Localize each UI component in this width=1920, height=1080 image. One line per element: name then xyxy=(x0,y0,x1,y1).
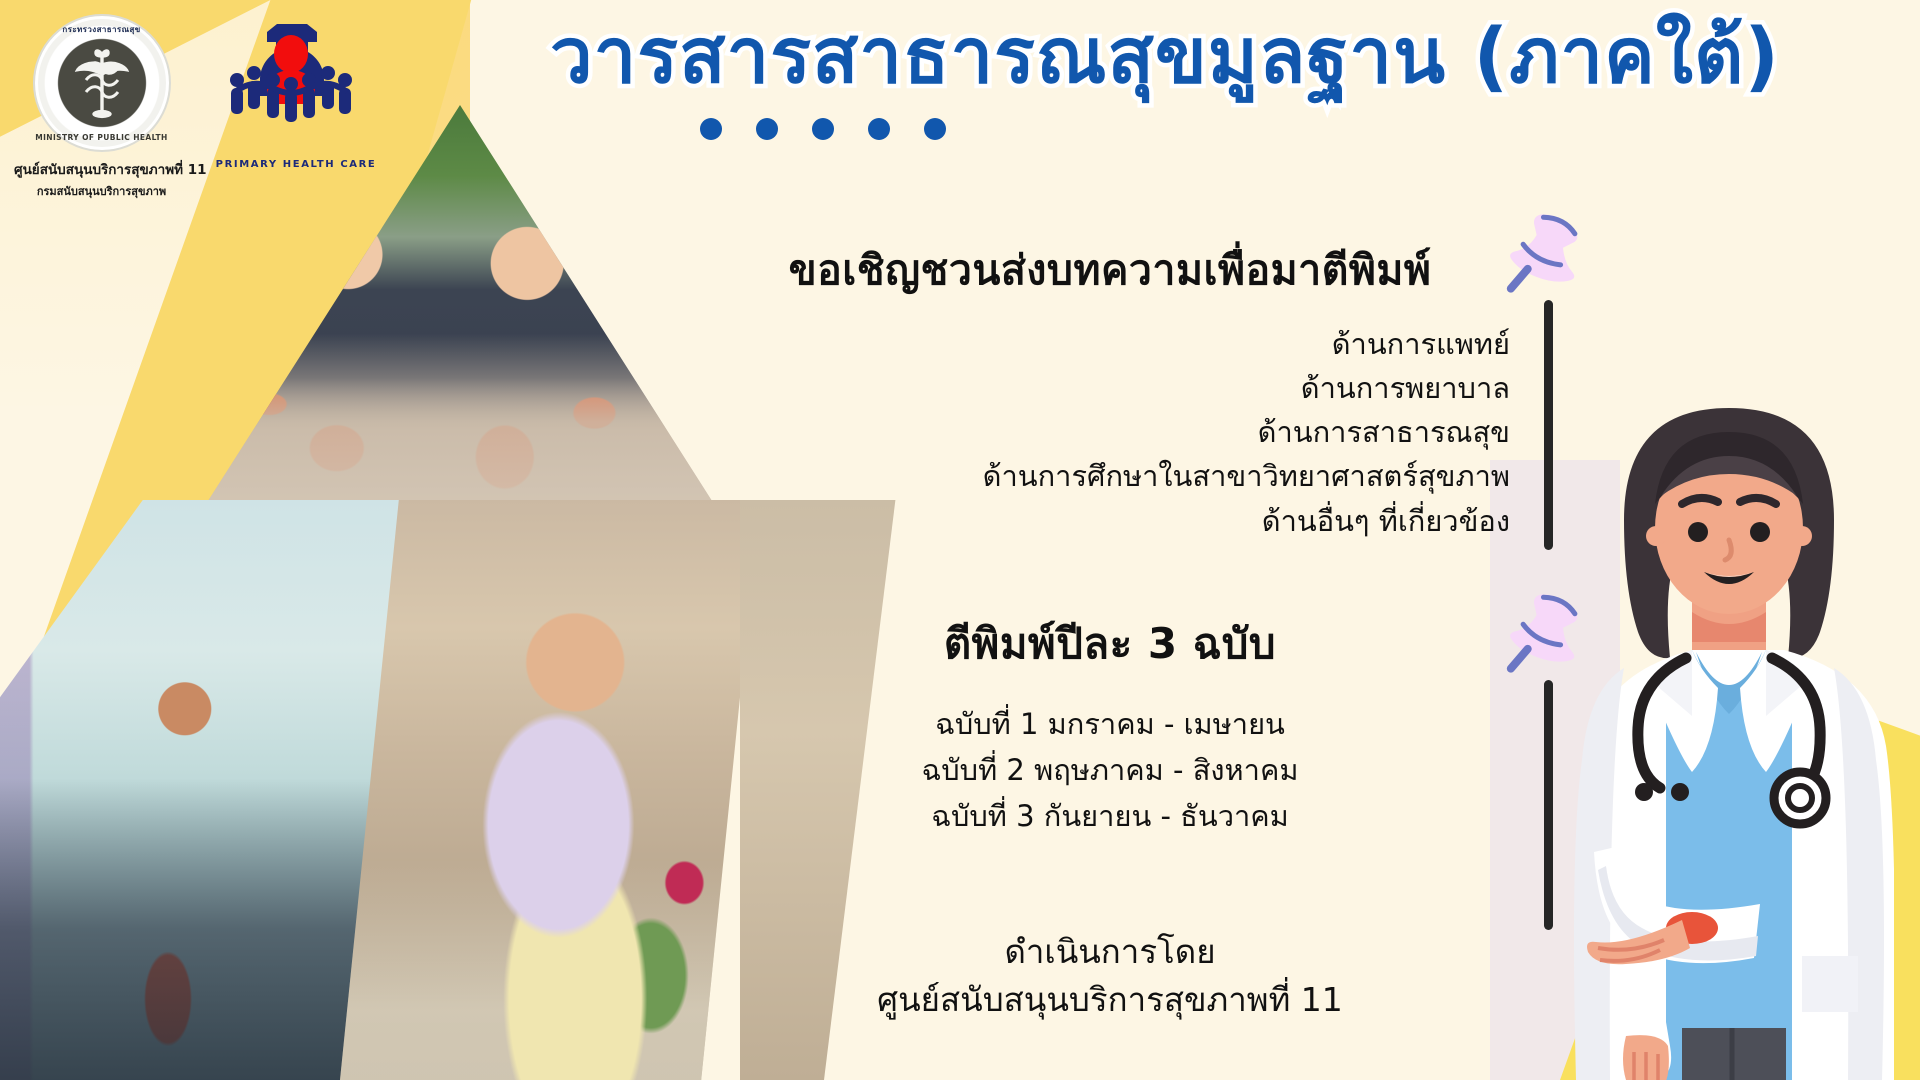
issue-schedule-list: ฉบับที่ 1 มกราคม - เมษายน ฉบับที่ 2 พฤษภ… xyxy=(700,701,1520,840)
page-title: วารสารสาธารณสุขมูลฐาน (ภาคใต้) xyxy=(430,16,1900,97)
moph-caption-line-1: ศูนย์สนับสนุนบริการสุขภาพที่ 11 xyxy=(14,158,189,180)
category-item: ด้านการแพทย์ xyxy=(700,322,1510,366)
decorative-dot xyxy=(756,118,778,140)
footer-line-1: ดำเนินการโดย xyxy=(700,928,1520,976)
ministry-of-public-health-seal-icon: กระทรวงสาธารณสุข MINISTRY OF PUBLIC HEAL… xyxy=(33,14,171,152)
article-category-list: ด้านการแพทย์ ด้านการพยาบาล ด้านการสาธารณ… xyxy=(700,322,1520,542)
invitation-headline: ขอเชิญชวนส่งบทความเพื่อมาตีพิมพ์ xyxy=(700,245,1520,296)
category-item: ด้านอื่นๆ ที่เกี่ยวข้อง xyxy=(700,499,1510,543)
vertical-rule-lower xyxy=(1544,680,1553,930)
category-item: ด้านการพยาบาล xyxy=(700,366,1510,410)
phc-logo-block: PRIMARY HEALTH CARE xyxy=(213,14,378,174)
seal-ring-text-bottom: MINISTRY OF PUBLIC HEALTH xyxy=(35,133,169,142)
phc-english-caption: PRIMARY HEALTH CARE xyxy=(207,159,385,170)
issue-item: ฉบับที่ 1 มกราคม - เมษายน xyxy=(700,701,1520,747)
poster-canvas: กระทรวงสาธารณสุข MINISTRY OF PUBLIC HEAL… xyxy=(0,0,1920,1080)
category-item: ด้านการสาธารณสุข xyxy=(700,410,1510,454)
issue-item: ฉบับที่ 2 พฤษภาคม - สิงหาคม xyxy=(700,747,1520,793)
publication-frequency-heading: ตีพิมพ์ปีละ 3 ฉบับ xyxy=(700,611,1520,677)
primary-health-care-icon xyxy=(221,18,361,136)
content-column: ขอเชิญชวนส่งบทความเพื่อมาตีพิมพ์ ด้านการ… xyxy=(700,245,1520,1024)
decorative-dot xyxy=(868,118,890,140)
decorative-dot-row xyxy=(700,118,946,140)
decorative-dot xyxy=(812,118,834,140)
caduceus-icon xyxy=(73,46,131,120)
pushpin-icon xyxy=(1498,210,1594,306)
vertical-rule-upper xyxy=(1544,300,1553,550)
seal-ring-text-top: กระทรวงสาธารณสุข xyxy=(35,23,169,36)
moph-logo-block: กระทรวงสาธารณสุข MINISTRY OF PUBLIC HEAL… xyxy=(14,14,189,200)
decorative-dot xyxy=(924,118,946,140)
category-item: ด้านการศึกษาในสาขาวิทยาศาสตร์สุขภาพ xyxy=(700,454,1510,498)
decorative-dot xyxy=(700,118,722,140)
moph-caption-line-2: กรมสนับสนุนบริการสุขภาพ xyxy=(14,182,189,200)
photo-woman-speaking-podium xyxy=(340,500,760,1080)
organizer-footer: ดำเนินการโดย ศูนย์สนับสนุนบริการสุขภาพที… xyxy=(700,928,1520,1024)
issue-item: ฉบับที่ 3 กันยายน - ธันวาคม xyxy=(700,793,1520,839)
footer-line-2: ศูนย์สนับสนุนบริการสุขภาพที่ 11 xyxy=(700,976,1520,1024)
female-doctor-illustration xyxy=(1564,400,1894,1080)
logo-row: กระทรวงสาธารณสุข MINISTRY OF PUBLIC HEAL… xyxy=(14,14,434,184)
